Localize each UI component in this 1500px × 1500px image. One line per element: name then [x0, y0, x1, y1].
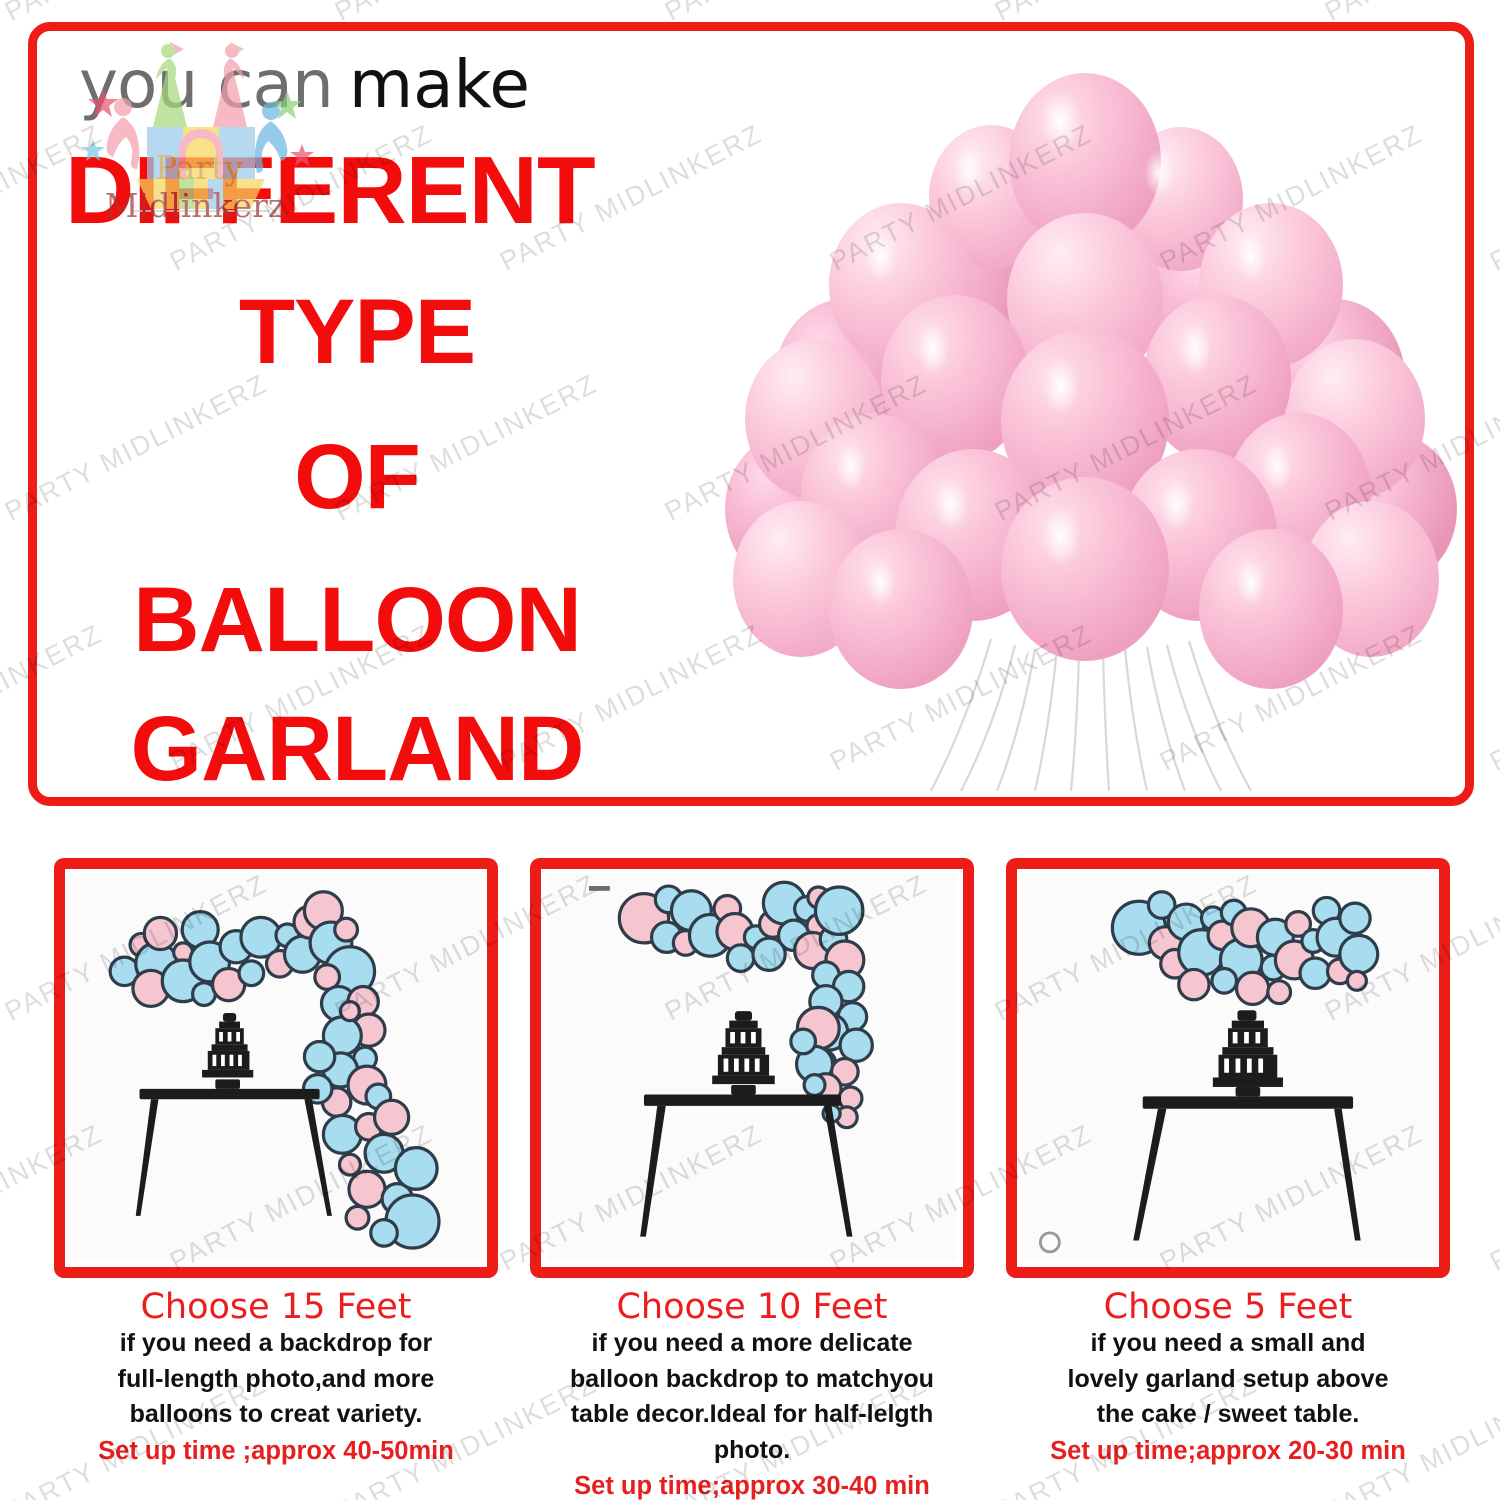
- card-body-line: table decor.Ideal for half-lelgth photo.: [530, 1397, 974, 1468]
- logo-child-left: [107, 98, 140, 169]
- garland-caption: Choose 5 Feet if you need a small and lo…: [1006, 1278, 1450, 1468]
- corner-dot-icon: [1040, 1233, 1059, 1252]
- hero-kicker-bold: make: [349, 46, 530, 123]
- garland-illustration-10-feet: [530, 858, 974, 1278]
- hero-banner: you canmake DIFFERENT TYPE OF BALLOON GA…: [28, 22, 1474, 806]
- garland-illustration-15-feet: [54, 858, 498, 1278]
- card-body-line: full-length photo,and more: [54, 1362, 498, 1398]
- card-body-line: if you need a backdrop for: [54, 1326, 498, 1362]
- hero-title-line-4: BALLOON: [37, 574, 677, 666]
- hero-title-line-2: TYPE: [37, 286, 677, 378]
- cake-table: [1133, 1010, 1360, 1240]
- logo-wordmark-line2: Midlinkerz: [105, 186, 286, 225]
- garland-option-card[interactable]: Choose 5 Feet if you need a small and lo…: [1006, 858, 1450, 1468]
- brand-logo: Party Midlinkerz: [75, 39, 325, 234]
- hero-title-line-5: GARLAND: [37, 703, 677, 795]
- card-setup-time: Set up time;approx 20-30 min: [1006, 1436, 1450, 1468]
- garland-caption: Choose 15 Feet if you need a backdrop fo…: [54, 1278, 498, 1468]
- garland-caption: Choose 10 Feet if you need a more delica…: [530, 1278, 974, 1500]
- card-body-line: if you need a more delicate: [530, 1326, 974, 1362]
- card-body-line: lovely garland setup above: [1006, 1362, 1450, 1398]
- card-setup-time: Set up time ;approx 40-50min: [54, 1436, 498, 1468]
- garland-option-card[interactable]: Choose 15 Feet if you need a backdrop fo…: [54, 858, 498, 1468]
- infographic-page: you canmake DIFFERENT TYPE OF BALLOON GA…: [0, 0, 1500, 1500]
- cake-table: [136, 1013, 332, 1216]
- watermark-text: PARTY MIDLINKERZ: [1485, 618, 1500, 777]
- card-body-line: if you need a small and: [1006, 1326, 1450, 1362]
- logo-wordmark-line1: Party: [155, 148, 243, 187]
- hero-title-line-3: OF: [37, 431, 677, 523]
- card-body-line: balloon backdrop to matchyou: [530, 1362, 974, 1398]
- card-setup-time: Set up time;approx 30-40 min: [530, 1471, 974, 1500]
- card-title: Choose 10 Feet: [530, 1288, 974, 1327]
- card-title: Choose 15 Feet: [54, 1288, 498, 1327]
- card-title: Choose 5 Feet: [1006, 1288, 1450, 1327]
- garland-illustration-5-feet: [1006, 858, 1450, 1278]
- watermark-text: PARTY MIDLINKERZ: [1485, 118, 1500, 277]
- garland-options-row: Choose 15 Feet if you need a backdrop fo…: [0, 858, 1500, 1498]
- pink-balloon-cluster-photo: [705, 49, 1465, 794]
- card-body-line: balloons to creat variety.: [54, 1397, 498, 1433]
- garland-option-card[interactable]: Choose 10 Feet if you need a more delica…: [530, 858, 974, 1500]
- hero-text-column: you canmake DIFFERENT TYPE OF BALLOON GA…: [37, 31, 697, 797]
- card-body-line: the cake / sweet table.: [1006, 1397, 1450, 1433]
